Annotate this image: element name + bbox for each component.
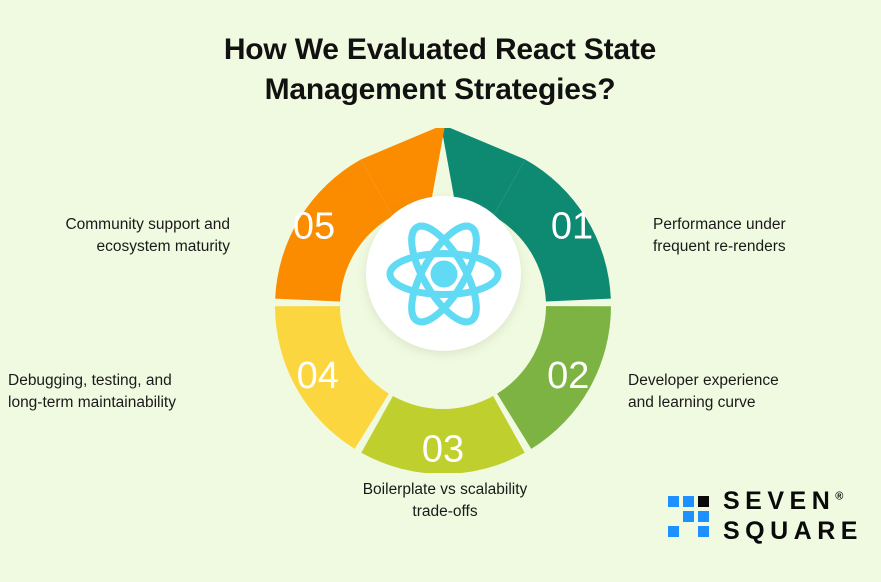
seven-square-grid-icon (668, 496, 710, 538)
logo-grid-square (698, 496, 709, 507)
logo-grid-square (683, 496, 694, 507)
donut-segment-number-03: 03 (422, 429, 464, 471)
callout-01-line-2: frequent re-renders (653, 236, 786, 258)
callout-02-line-1: Developer experience (628, 370, 779, 392)
callout-02-line-2: and learning curve (628, 392, 779, 414)
callout-label-04: Debugging, testing, and long-term mainta… (8, 370, 248, 414)
page-title: How We Evaluated React State Management … (140, 30, 740, 110)
donut-segment-number-01: 01 (551, 206, 593, 248)
react-logo-badge (366, 196, 521, 351)
callout-label-01: Performance under frequent re-renders (653, 214, 786, 258)
callout-01-line-1: Performance under (653, 214, 786, 236)
donut-segment-number-02: 02 (547, 355, 589, 397)
callout-label-05: Community support and ecosystem maturity (0, 214, 230, 258)
logo-grid-square (698, 526, 709, 537)
brand-logo-text: SEVEN® SQUARE (723, 489, 863, 544)
callout-03-line-2: trade-offs (306, 501, 584, 523)
donut-segment-number-05: 05 (293, 206, 335, 248)
logo-grid-square (668, 526, 679, 537)
title-line-1: How We Evaluated React State (140, 30, 740, 70)
callout-05-line-1: Community support and (0, 214, 230, 236)
callout-04-line-2: long-term maintainability (8, 392, 248, 414)
brand-word-square: SQUARE (723, 519, 863, 544)
react-logo-icon (385, 221, 503, 327)
logo-grid-square (668, 496, 679, 507)
infographic-canvas: How We Evaluated React State Management … (0, 0, 881, 582)
brand-word-seven: SEVEN® (723, 489, 863, 514)
callout-05-line-2: ecosystem maturity (0, 236, 230, 258)
callout-label-02: Developer experience and learning curve (628, 370, 779, 414)
logo-grid-square (698, 511, 709, 522)
logo-grid-square (683, 511, 694, 522)
brand-logo: SEVEN® SQUARE (668, 489, 863, 544)
registered-mark: ® (835, 491, 843, 503)
title-line-2: Management Strategies? (140, 70, 740, 110)
callout-label-03: Boilerplate vs scalability trade-offs (306, 479, 584, 523)
donut-segment-number-04: 04 (297, 355, 339, 397)
callout-03-line-1: Boilerplate vs scalability (306, 479, 584, 501)
callout-04-line-1: Debugging, testing, and (8, 370, 248, 392)
